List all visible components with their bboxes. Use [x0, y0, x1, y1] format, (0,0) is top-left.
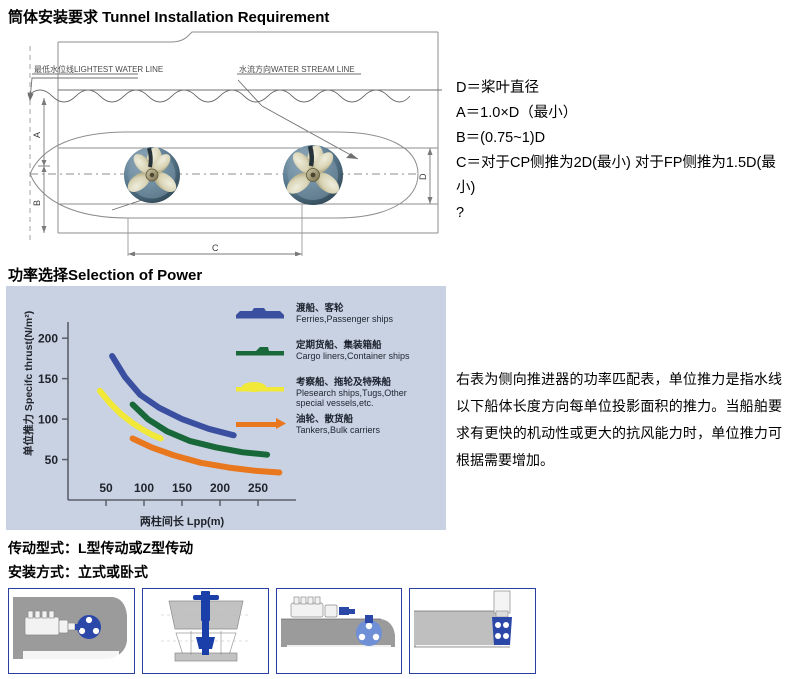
installation-thumbnail-strip [8, 588, 536, 674]
chart-legend-label-cn: 渡船、客轮 [296, 302, 344, 314]
chart-x-tick: 50 [99, 481, 113, 495]
page-title-tunnel-installation: 筒体安装要求 Tunnel Installation Requirement [8, 6, 329, 27]
specific-thrust-chart: 50100150200 50100150200250 渡船、客轮Ferries,… [6, 286, 446, 530]
heading-mounting-type: 安装方式：立式或卧式 [8, 562, 148, 582]
chart-y-tick: 50 [45, 453, 59, 467]
chart-description-paragraph: 右表为侧向推进器的功率匹配表，单位推力是指水线以下船体长度方向每单位投影面积的推… [456, 366, 782, 474]
formula-line-extra: ? [456, 201, 786, 226]
chart-legend-label-en: Tankers,Bulk carriers [296, 425, 381, 435]
formula-line-d: D＝桨叶直径 [456, 76, 786, 101]
chart-y-tick: 200 [38, 332, 58, 346]
tunnel-installation-diagram: 最低水位线LIGHTEST WATER LINE 水流方向WATER STREA… [6, 28, 446, 256]
chart-x-tick: 200 [210, 481, 230, 495]
chart-x-tick: 100 [134, 481, 154, 495]
formula-line-b: B＝(0.75~1)D [456, 126, 786, 151]
formula-line-c: C＝对于CP侧推为2D(最小) 对于FP侧推为1.5D(最小) [456, 151, 786, 201]
chart-legend-label-en: special vessels,etc. [296, 398, 374, 408]
vertical-thruster-icon [492, 591, 512, 645]
chart-y-tick: 150 [38, 372, 58, 386]
chart-legend-label-en: Cargo liners,Container ships [296, 351, 410, 361]
thumbnail-horizontal-l-drive-engine-room[interactable] [8, 588, 135, 674]
chart-x-tick: 250 [248, 481, 268, 495]
chart-y-tick: 100 [38, 413, 58, 427]
label-dim-d: D [418, 173, 428, 180]
chart-legend-label-cn: 考察船、拖轮及特殊船 [296, 376, 392, 388]
chart-legend-label-en: Plesearch ships,Tugs,Other [296, 388, 407, 398]
formula-line-a: A＝1.0×D（最小） [456, 101, 786, 126]
label-lightest-water-line: 最低水位线LIGHTEST WATER LINE [34, 64, 163, 74]
chart-legend-label-cn: 油轮、散货船 [296, 413, 354, 425]
label-dim-b: B [32, 200, 42, 206]
chart-legend-label-en: Ferries,Passenger ships [296, 314, 394, 324]
thumbnail-vertical-mounted-unit[interactable] [409, 588, 536, 674]
label-dim-a: A [32, 132, 42, 138]
thumbnail-horizontal-drive-bulkhead[interactable] [276, 588, 403, 674]
chart-x-axis-label: 两柱间长 Lpp(m) [140, 514, 225, 528]
propeller-graphic-2 [283, 144, 343, 205]
propeller-graphic-1 [124, 146, 180, 203]
page-title-selection-of-power: 功率选择Selection of Power [8, 264, 202, 285]
chart-x-tick: 150 [172, 481, 192, 495]
thumbnail-vertical-z-drive-section[interactable] [142, 588, 269, 674]
label-dim-c: C [212, 243, 219, 253]
formula-list: D＝桨叶直径 A＝1.0×D（最小） B＝(0.75~1)D C＝对于CP侧推为… [456, 76, 786, 226]
label-water-stream-line: 水流方向WATER STREAM LINE [239, 64, 355, 74]
chart-y-axis-label: 单位推力 Specifc thrust(N/m²) [22, 311, 35, 456]
heading-drive-type: 传动型式：L型传动或Z型传动 [8, 538, 193, 558]
chart-legend-label-cn: 定期货船、集装箱船 [295, 339, 382, 351]
